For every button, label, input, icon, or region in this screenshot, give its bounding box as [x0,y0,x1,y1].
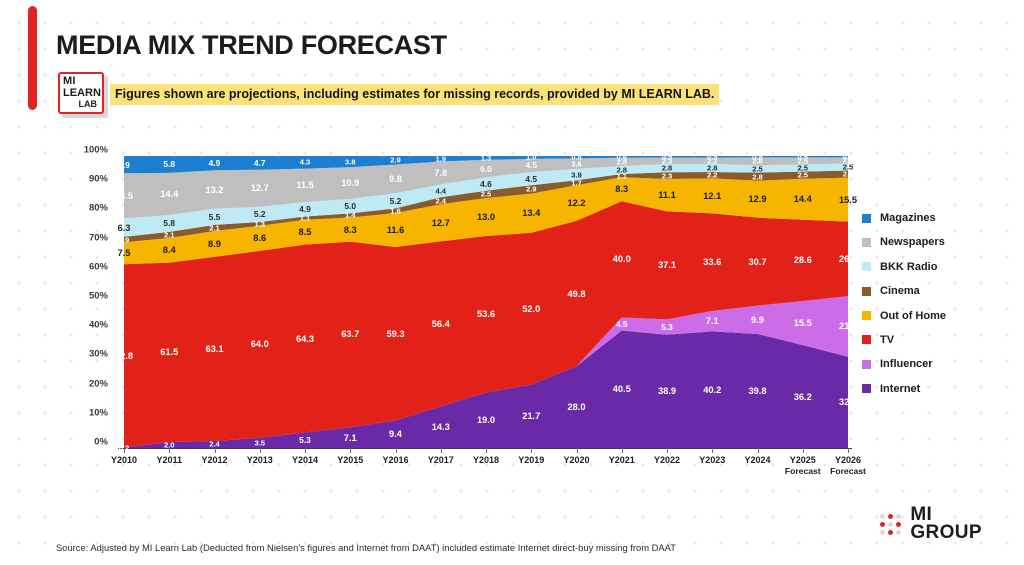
mi-group-wordmark: MI GROUP [910,506,982,543]
legend-item-internet[interactable]: Internet [862,383,946,395]
y-axis-labels: 0%10%20%30%40%50%60%70%80%90%100% [62,150,108,450]
dot [888,514,893,519]
x-axis-tick [350,448,351,453]
legend-item-newspapers[interactable]: Newspapers [862,236,946,248]
x-axis-year: Y2018 [473,455,499,465]
x-axis-year: Y2021 [609,455,635,465]
x-axis-year: Y2026 [835,455,861,465]
x-axis-year: Y2011 [156,455,182,465]
x-axis-year: Y2019 [518,455,544,465]
x-axis-tick-label: Y2017 [428,455,454,466]
x-axis-year: Y2025 [790,455,816,465]
plot-area: 0.22.02.43.55.37.19.414.319.021.728.040.… [124,156,848,448]
y-axis-tick-label: 50% [89,291,108,302]
legend-item-label: Cinema [880,285,920,297]
x-axis-tick [396,448,397,453]
y-axis-tick-label: 70% [89,232,108,243]
accent-bar [28,6,37,110]
x-axis-tick-label: Y2010 [111,455,137,466]
x-axis-year: Y2013 [247,455,273,465]
y-axis-tick-label: 40% [89,320,108,331]
legend-item-label: Magazines [880,212,936,224]
x-axis-forecast-tag: Forecast [830,466,866,477]
x-axis-tick [305,448,306,453]
logo-text: MI LEARN LAB [58,72,104,114]
legend-swatch-icon [862,335,871,344]
dot [880,514,885,519]
x-axis-tick [531,448,532,453]
x-axis-tick [260,448,261,453]
y-axis-tick-label: 60% [89,261,108,272]
legend-item-label: Influencer [880,358,933,370]
x-axis-forecast-tag: Forecast [785,466,821,477]
x-axis-tick [622,448,623,453]
logo-line-1: MI [63,76,99,87]
legend-swatch-icon [862,238,871,247]
legend-swatch-icon [862,262,871,271]
x-axis-tick-label: Y2015 [337,455,363,466]
x-axis-tick [712,448,713,453]
x-axis-tick [803,448,804,453]
x-axis-tick [215,448,216,453]
y-axis-tick-label: 100% [84,145,108,156]
y-axis-tick-label: 10% [89,407,108,418]
mi-group-line-2: GROUP [910,524,982,543]
x-axis-tick [577,448,578,453]
dot [888,530,893,535]
dot [888,522,893,527]
dot [896,530,901,535]
dot [880,522,885,527]
legend-item-out-of-home[interactable]: Out of Home [862,310,946,322]
legend-item-bkk-radio[interactable]: BKK Radio [862,261,946,273]
y-axis-tick-label: 20% [89,378,108,389]
x-axis-year: Y2024 [744,455,770,465]
legend-item-label: Newspapers [880,236,945,248]
chart-legend: MagazinesNewspapersBKK RadioCinemaOut of… [862,212,946,407]
legend-item-cinema[interactable]: Cinema [862,285,946,297]
legend-swatch-icon [862,287,871,296]
x-axis-year: Y2017 [428,455,454,465]
x-axis-tick-label: Y2018 [473,455,499,466]
x-axis-tick-label: Y2016 [382,455,408,466]
legend-item-label: TV [880,334,894,346]
x-axis-tick-label: Y2012 [201,455,227,466]
x-axis-tick [848,448,849,453]
x-axis-tick [124,448,125,453]
legend-item-label: BKK Radio [880,261,937,273]
x-axis-tick [169,448,170,453]
y-axis-tick-label: 0% [94,437,108,448]
y-axis-tick-label: 90% [89,174,108,185]
x-axis-tick-label: Y2022 [654,455,680,466]
x-axis-tick-label: Y2011 [156,455,182,466]
legend-item-label: Out of Home [880,310,946,322]
x-axis-labels: Y2010Y2011Y2012Y2013Y2014Y2015Y2016Y2017… [0,455,1024,489]
y-axis-tick-label: 30% [89,349,108,360]
legend-swatch-icon [862,360,871,369]
x-axis-year: Y2010 [111,455,137,465]
dot [896,514,901,519]
mi-learn-lab-logo: MI LEARN LAB [58,72,108,118]
x-axis-tick [667,448,668,453]
x-axis-year: Y2012 [201,455,227,465]
x-axis-tick-label: Y2023 [699,455,725,466]
x-axis-year: Y2015 [337,455,363,465]
mi-group-logo: MI GROUP [880,506,982,543]
logo-line-3: LAB [63,100,99,109]
x-axis-tick [758,448,759,453]
legend-item-magazines[interactable]: Magazines [862,212,946,224]
x-axis-tick-label: Y2025Forecast [785,455,821,477]
x-axis-tick-label: Y2024 [744,455,770,466]
x-axis-tick-label: Y2021 [609,455,635,466]
source-note: Source: Adjusted by MI Learn Lab (Deduct… [56,542,676,553]
x-axis-tick [441,448,442,453]
x-axis-tick-label: Y2014 [292,455,318,466]
x-axis-tick-label: Y2026Forecast [830,455,866,477]
logo-line-2: LEARN [63,88,99,99]
legend-item-tv[interactable]: TV [862,334,946,346]
legend-swatch-icon [862,384,871,393]
x-axis-year: Y2023 [699,455,725,465]
x-axis-year: Y2016 [382,455,408,465]
legend-swatch-icon [862,214,871,223]
dot [880,530,885,535]
y-axis-tick-label: 80% [89,203,108,214]
x-axis-year: Y2022 [654,455,680,465]
subtitle-note: Figures shown are projections, including… [110,84,719,105]
legend-swatch-icon [862,311,871,320]
x-axis-tick [486,448,487,453]
x-axis-tick-label: Y2013 [247,455,273,466]
x-axis-tick-label: Y2020 [563,455,589,466]
x-axis-year: Y2014 [292,455,318,465]
legend-item-label: Internet [880,383,920,395]
mi-group-dots [880,514,901,535]
legend-item-influencer[interactable]: Influencer [862,358,946,370]
x-axis-line [118,448,852,449]
page-title: MEDIA MIX TREND FORECAST [56,30,447,61]
x-axis-year: Y2020 [563,455,589,465]
chart-svg [124,156,848,448]
x-axis-tick-label: Y2019 [518,455,544,466]
dot [896,522,901,527]
